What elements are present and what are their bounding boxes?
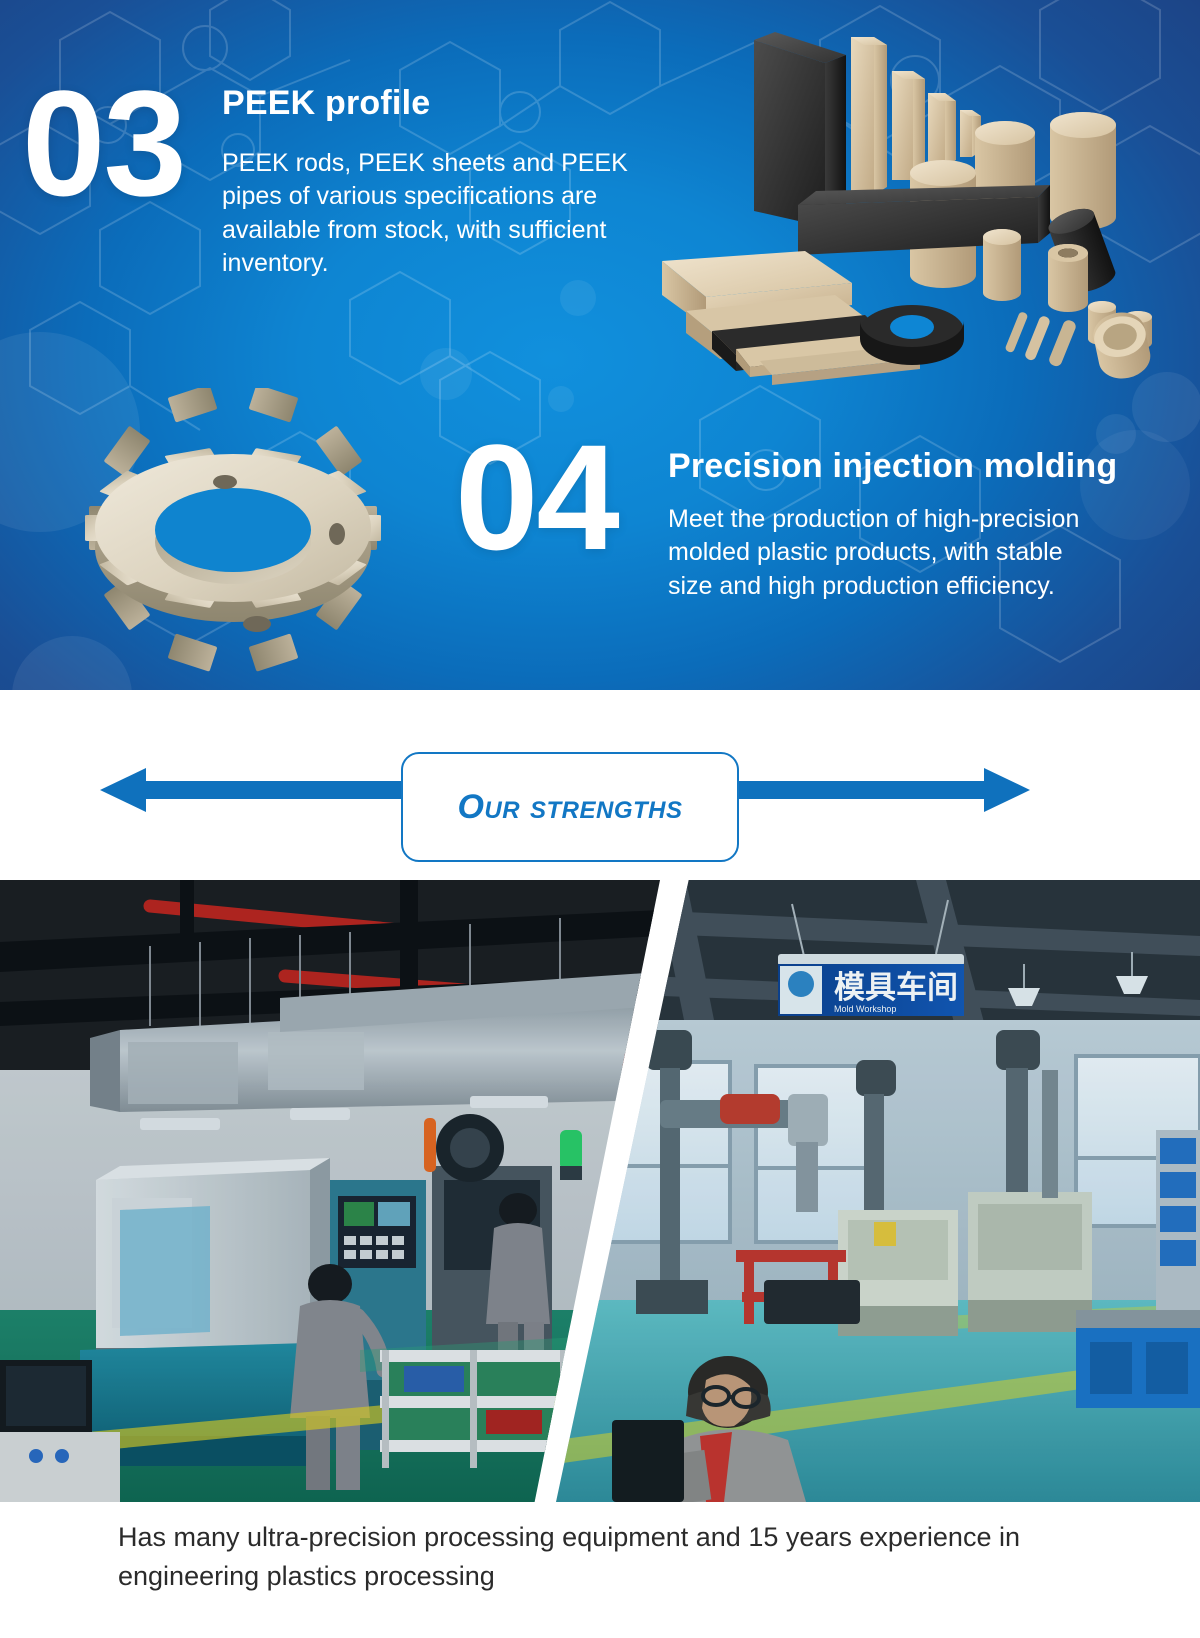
decor-dot xyxy=(548,386,574,412)
peek-gear-ring-part-photo xyxy=(28,388,438,673)
hero-blue-panel: 03 PEEK profile PEEK rods, PEEK sheets a… xyxy=(0,0,1200,690)
arrow-right-icon xyxy=(984,768,1030,812)
peek-stock-shapes-photo xyxy=(620,15,1200,385)
hero-item-number-04: 04 xyxy=(455,430,618,565)
hero-item-title-03: PEEK profile xyxy=(222,84,430,123)
hero-item-body-04: Meet the production of high-precision mo… xyxy=(668,503,1098,603)
workshop-photo-pair: 模具车间 Mold Workshop xyxy=(0,880,1200,1502)
hero-item-title-04: Precision injection molding xyxy=(668,447,1117,486)
hero-item-number-03: 03 xyxy=(22,76,185,211)
promo-page: 03 PEEK profile PEEK rods, PEEK sheets a… xyxy=(0,0,1200,1638)
mold-workshop-photo: 模具车间 Mold Workshop xyxy=(556,880,1200,1502)
hero-item-body-03: PEEK rods, PEEK sheets and PEEK pipes of… xyxy=(222,147,652,280)
decor-dot xyxy=(560,280,596,316)
cnc-machining-workshop-photo xyxy=(0,880,660,1502)
arrow-left-icon xyxy=(100,768,146,812)
our-strengths-label: Our strengths xyxy=(401,752,739,862)
bottom-caption: Has many ultra-precision processing equi… xyxy=(118,1518,1118,1597)
